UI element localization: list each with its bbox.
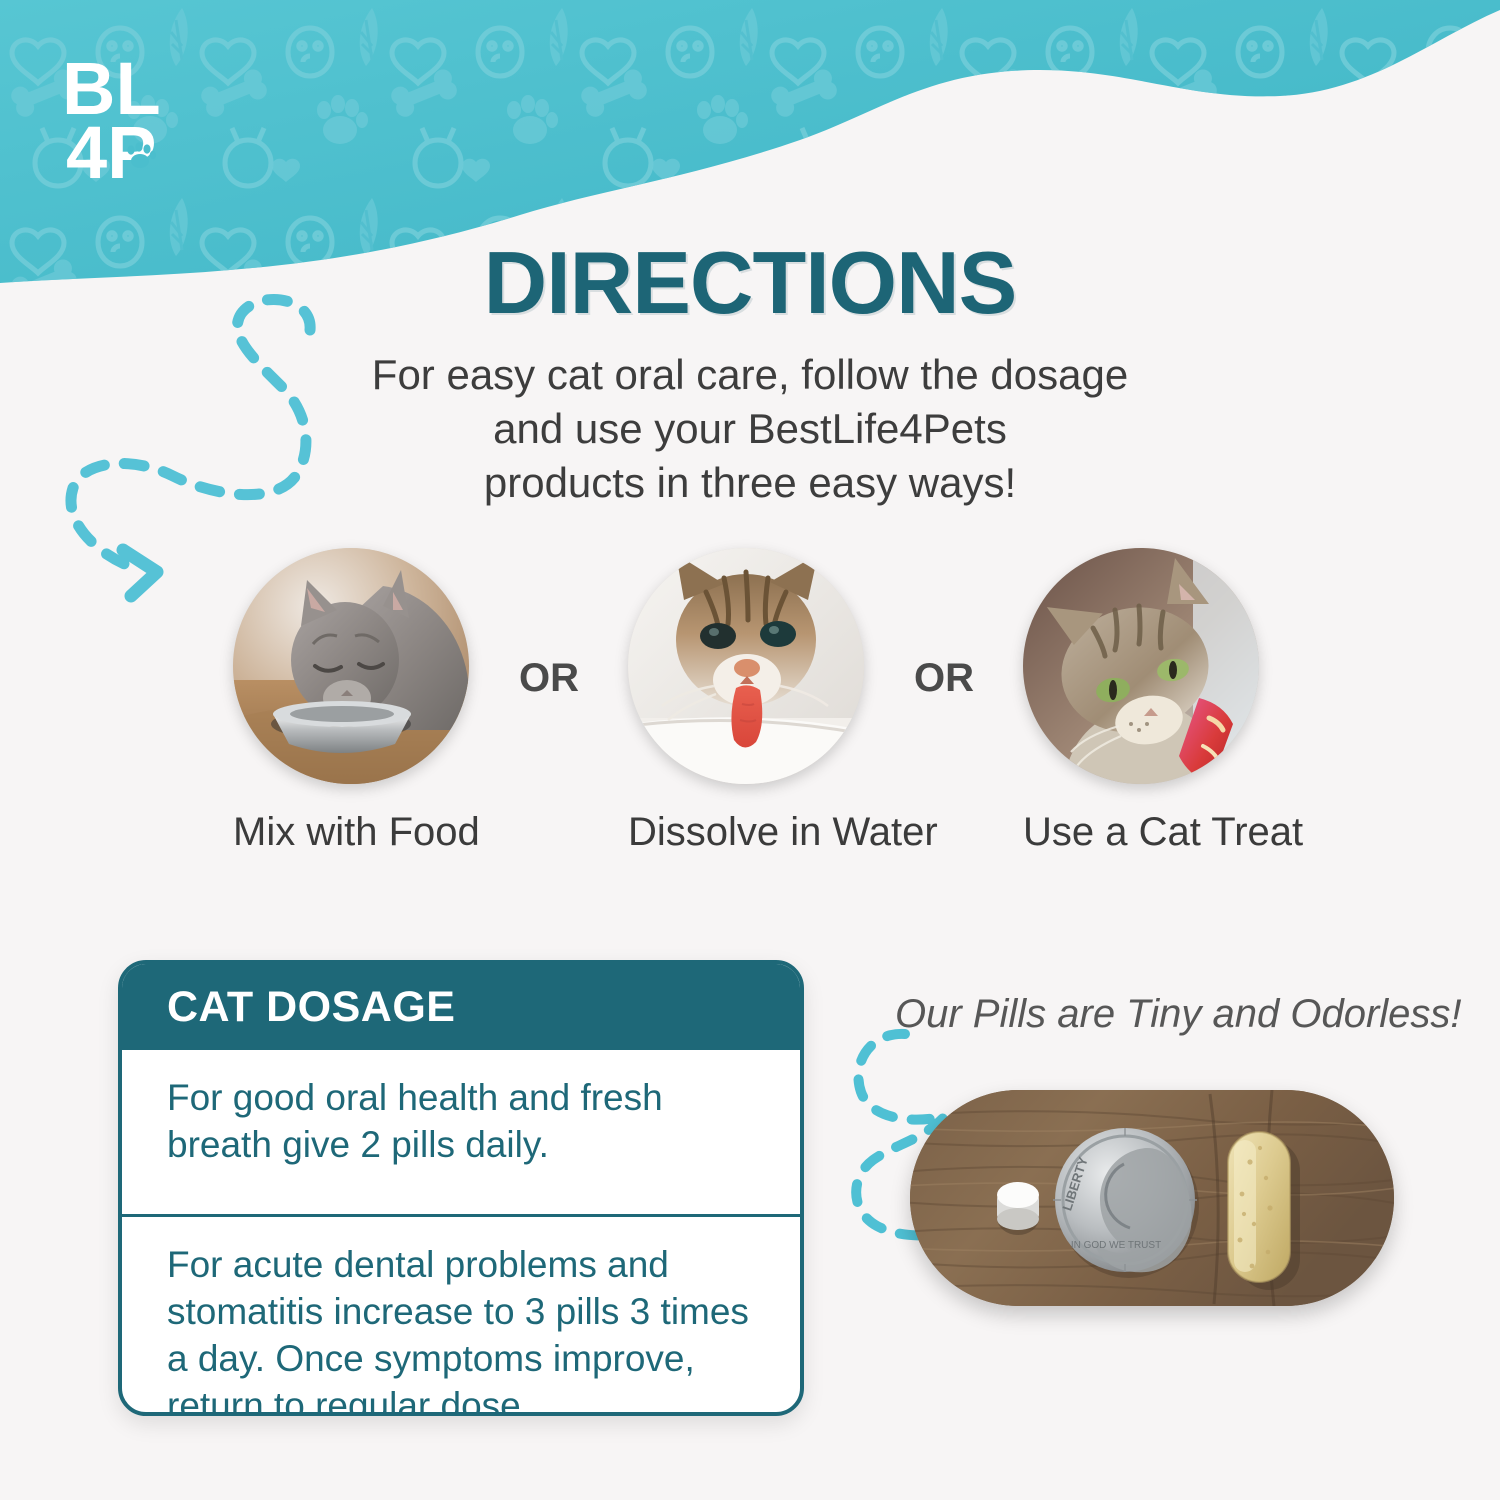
cat-dosage-card: CAT DOSAGE For good oral health and fres… [118, 960, 804, 1416]
usage-method-label: Mix with Food [233, 810, 473, 855]
dosage-row-acute: For acute dental problems and stomatitis… [122, 1217, 800, 1416]
large-capsule-pill-shape [1228, 1132, 1300, 1290]
cat-dosage-heading: CAT DOSAGE [122, 964, 800, 1050]
dosage-row-regular: For good oral health and fresh breath gi… [122, 1050, 800, 1217]
arrow-head-icon [123, 550, 157, 596]
usage-method-label: Dissolve in Water [628, 810, 868, 855]
usage-method-label: Use a Cat Treat [1023, 810, 1263, 855]
separator-or-1: OR [519, 656, 579, 701]
wood-board-with-pill-dime-capsule-photo: LIBERTY IN GOD WE TRUST [910, 1090, 1394, 1306]
brand-logo: BL 4P [60, 48, 210, 198]
cat-with-treat-tube-photo [1023, 548, 1259, 784]
small-white-pill-shape [997, 1182, 1039, 1235]
usage-method-use-a-cat-treat: Use a Cat Treat [1023, 548, 1263, 855]
cat-drinking-water-photo [628, 548, 864, 784]
infographic-page: BL 4P DIRECTIONS For easy cat oral care,… [0, 0, 1500, 1500]
separator-or-2: OR [914, 656, 974, 701]
cat-eating-from-bowl-photo [233, 548, 469, 784]
logo-text-4p: 4P [66, 111, 157, 194]
usage-methods-row: Mix with Food OR [185, 548, 1315, 868]
tongue-shape [731, 685, 762, 747]
coin-motto-text: IN GOD WE TRUST [1071, 1240, 1161, 1251]
usage-method-mix-with-food: Mix with Food [233, 548, 473, 855]
usage-method-dissolve-in-water: Dissolve in Water [628, 548, 868, 855]
